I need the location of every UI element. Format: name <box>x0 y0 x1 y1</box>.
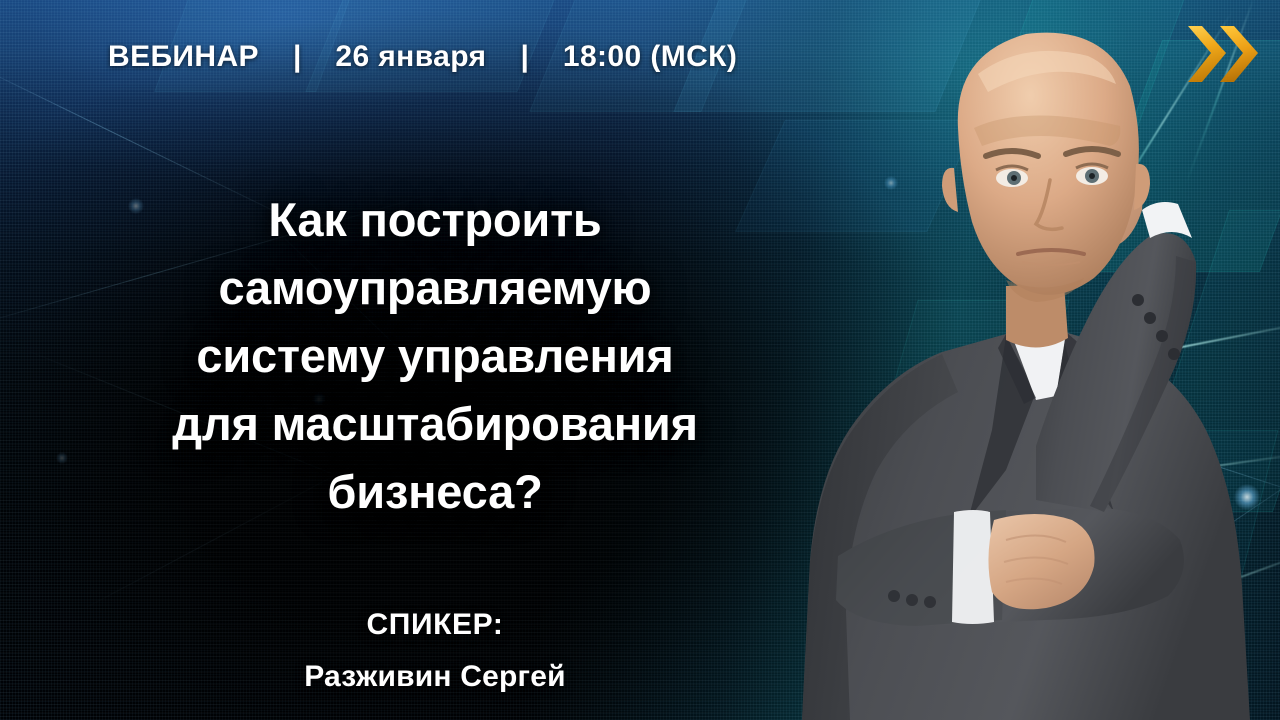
title-line: Как построить <box>40 186 830 254</box>
title-line: самоуправляемую <box>40 254 830 322</box>
header-separator-2: | <box>486 40 562 74</box>
speaker-info: СПИКЕР: Разживин Сергей <box>40 608 830 694</box>
speaker-name: Разживин Сергей <box>40 660 830 694</box>
webinar-title: Как построить самоуправляемую систему уп… <box>40 186 830 526</box>
event-type-label: ВЕБИНАР <box>108 40 259 74</box>
speaker-label: СПИКЕР: <box>40 608 830 642</box>
double-chevron-right-icon[interactable] <box>1186 22 1260 86</box>
title-line: для масштабирования <box>40 390 830 458</box>
webinar-banner: ВЕБИНАР | 26 января | 18:00 (МСК) <box>0 0 1280 720</box>
event-date-label: 26 января <box>335 40 486 74</box>
header-info-row: ВЕБИНАР | 26 января | 18:00 (МСК) <box>108 40 737 74</box>
header-separator-1: | <box>259 40 335 74</box>
title-line: бизнеса? <box>40 458 830 526</box>
title-line: систему управления <box>40 322 830 390</box>
event-time-label: 18:00 (МСК) <box>563 40 737 74</box>
